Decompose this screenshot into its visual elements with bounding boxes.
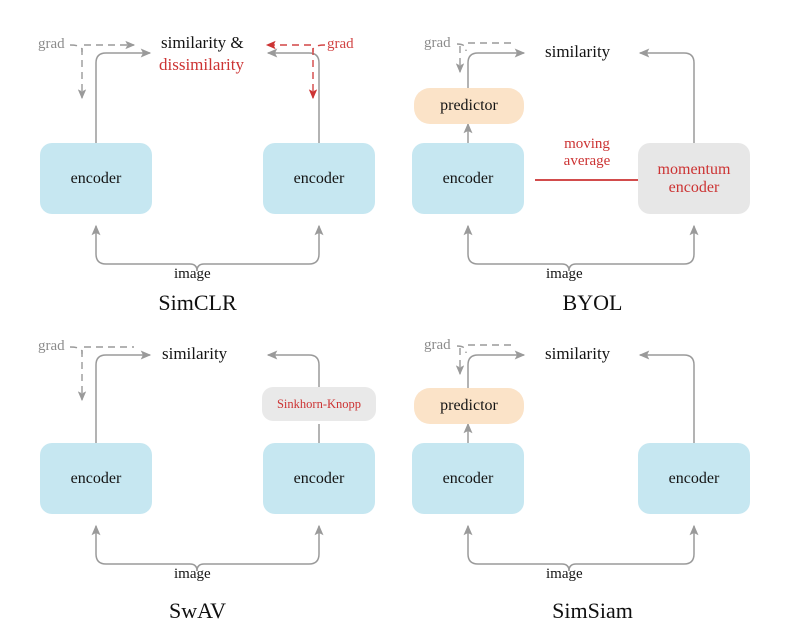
simclr-image-label: image (174, 266, 211, 283)
box-label-line1: momentum (658, 161, 731, 179)
box-label: encoder (294, 170, 345, 188)
box-label: encoder (71, 170, 122, 188)
swav-grad-label: grad (38, 338, 65, 355)
simclr-encoder-right[interactable]: encoder (263, 143, 375, 214)
moving-average-line1: moving (551, 136, 623, 153)
self-supervised-methods-figure: encoder encoder grad grad similarity & d… (0, 0, 790, 636)
panel-title-byol: BYOL (395, 290, 790, 316)
box-label: encoder (669, 470, 720, 488)
simsiam-encoder-left[interactable]: encoder (412, 443, 524, 514)
box-label-line2: encoder (669, 179, 720, 197)
byol-similarity-label: similarity (545, 42, 610, 62)
simclr-dissimilarity-label: dissimilarity (159, 55, 244, 75)
box-label: encoder (443, 470, 494, 488)
swav-encoder-right[interactable]: encoder (263, 443, 375, 514)
swav-image-label: image (174, 566, 211, 583)
byol-encoder-left[interactable]: encoder (412, 143, 524, 214)
simsiam-grad-label: grad (424, 337, 451, 354)
simclr-grad-label-right: grad (327, 36, 354, 53)
box-label: encoder (443, 170, 494, 188)
byol-momentum-encoder[interactable]: momentum encoder (638, 143, 750, 214)
swav-sinkhorn-knopp[interactable]: Sinkhorn-Knopp (262, 387, 376, 421)
swav-encoder-left[interactable]: encoder (40, 443, 152, 514)
panel-title-simclr: SimCLR (0, 290, 395, 316)
simclr-similarity-label: similarity & (161, 33, 244, 53)
byol-predictor[interactable]: predictor (414, 88, 524, 124)
connector-layer (0, 0, 790, 636)
byol-moving-average-label: moving average (551, 136, 623, 171)
simsiam-predictor[interactable]: predictor (414, 388, 524, 424)
simclr-grad-label-left: grad (38, 36, 65, 53)
byol-grad-label: grad (424, 35, 451, 52)
simsiam-image-label: image (546, 566, 583, 583)
box-label: encoder (71, 470, 122, 488)
box-label: predictor (440, 397, 498, 415)
box-label: predictor (440, 97, 498, 115)
simclr-encoder-left[interactable]: encoder (40, 143, 152, 214)
panel-title-swav: SwAV (0, 598, 395, 624)
panel-title-simsiam: SimSiam (395, 598, 790, 624)
simsiam-similarity-label: similarity (545, 344, 610, 364)
box-label: encoder (294, 470, 345, 488)
swav-similarity-label: similarity (162, 344, 227, 364)
moving-average-line2: average (551, 153, 623, 170)
byol-image-label: image (546, 266, 583, 283)
simsiam-encoder-right[interactable]: encoder (638, 443, 750, 514)
box-label: Sinkhorn-Knopp (277, 397, 361, 411)
